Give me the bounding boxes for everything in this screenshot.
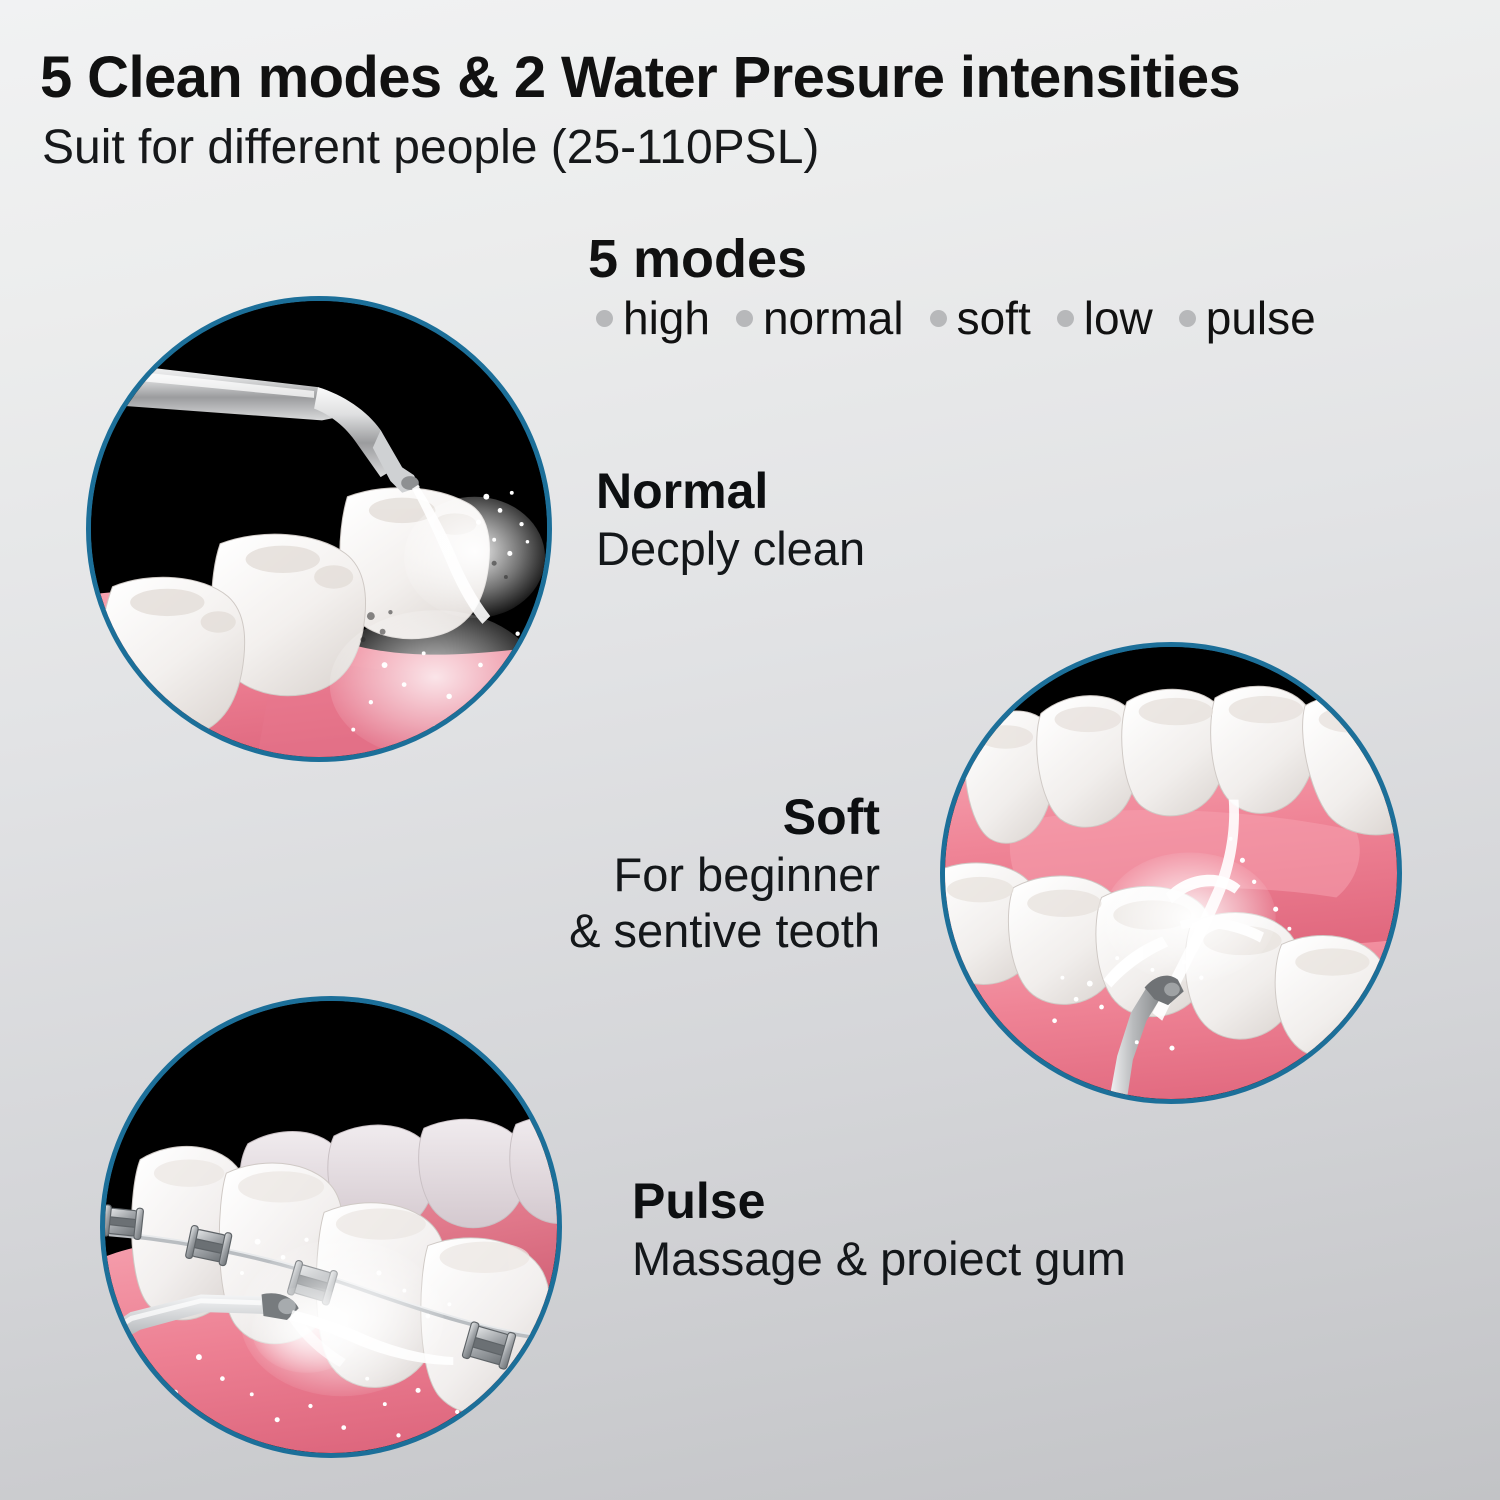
bullet-dot-icon bbox=[1057, 310, 1074, 327]
feature-title: Soft bbox=[569, 788, 880, 847]
mode-label: soft bbox=[957, 295, 1031, 341]
feature-description-line: For beginner bbox=[569, 847, 880, 903]
mode-label: normal bbox=[763, 295, 904, 341]
mode-label: low bbox=[1084, 295, 1153, 341]
feature-caption-normal: Normal Decply clean bbox=[596, 462, 865, 577]
feature-description-line: Decply clean bbox=[596, 521, 865, 577]
bullet-dot-icon bbox=[736, 310, 753, 327]
infographic-page: 5 Clean modes & 2 Water Presure intensit… bbox=[0, 0, 1500, 1500]
feature-description-line: & sentive teoth bbox=[569, 903, 880, 959]
feature-image-normal bbox=[86, 296, 552, 762]
modes-heading: 5 modes bbox=[588, 228, 807, 290]
mode-item-normal: normal bbox=[736, 295, 904, 341]
feature-image-soft bbox=[940, 642, 1402, 1104]
modes-list: high normal soft low pulse bbox=[596, 295, 1316, 341]
mode-item-pulse: pulse bbox=[1179, 295, 1316, 341]
feature-title: Pulse bbox=[632, 1172, 1126, 1231]
feature-caption-pulse: Pulse Massage & proiect gum bbox=[632, 1172, 1126, 1287]
mode-item-soft: soft bbox=[930, 295, 1031, 341]
page-subtitle: Suit for different people (25-110PSL) bbox=[42, 120, 819, 175]
feature-image-pulse bbox=[100, 996, 562, 1458]
mode-item-low: low bbox=[1057, 295, 1153, 341]
bullet-dot-icon bbox=[930, 310, 947, 327]
flosser-cleaning-braces-illustration bbox=[105, 1001, 557, 1453]
feature-title: Normal bbox=[596, 462, 865, 521]
feature-caption-soft: Soft For beginner & sentive teoth bbox=[569, 788, 880, 960]
page-title: 5 Clean modes & 2 Water Presure intensit… bbox=[40, 44, 1240, 111]
bullet-dot-icon bbox=[596, 310, 613, 327]
bullet-dot-icon bbox=[1179, 310, 1196, 327]
mode-item-high: high bbox=[596, 295, 710, 341]
mode-label: high bbox=[623, 295, 710, 341]
feature-description-line: Massage & proiect gum bbox=[632, 1231, 1126, 1287]
flosser-spraying-molars-illustration bbox=[91, 301, 547, 757]
mode-label: pulse bbox=[1206, 295, 1316, 341]
flosser-spraying-between-teeth-illustration bbox=[945, 647, 1397, 1099]
